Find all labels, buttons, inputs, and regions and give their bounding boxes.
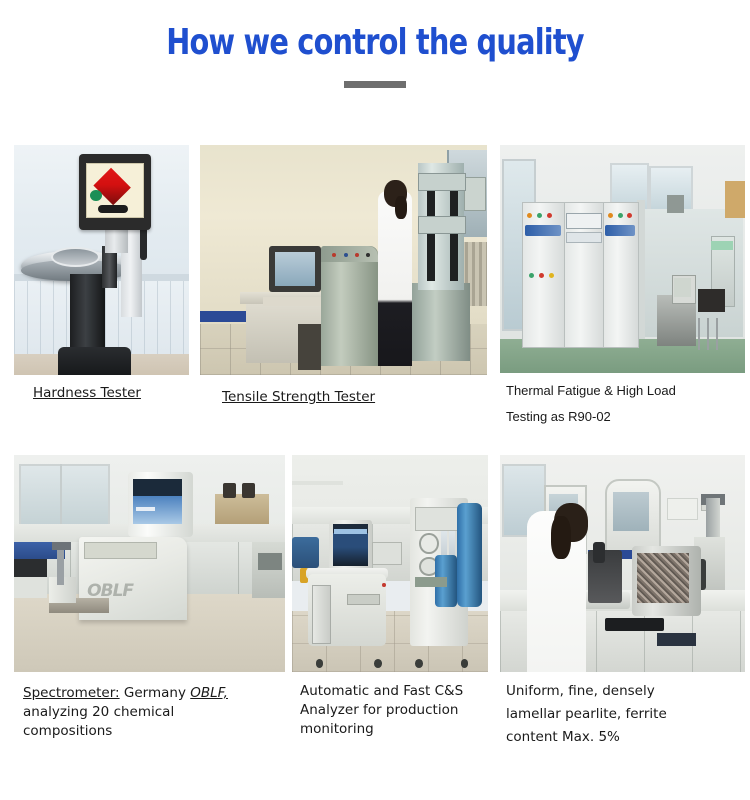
caption-thermal-fatigue-line2: Testing as R90-02 <box>506 404 611 429</box>
keyboard <box>605 618 664 631</box>
wood-frame <box>725 181 745 217</box>
ceiling-duct-box <box>667 195 684 213</box>
caption-spectrometer-line2: analyzing 20 chemical <box>23 702 174 722</box>
printer-body <box>14 577 47 599</box>
cabinet-label-strip-right <box>605 225 634 236</box>
title-divider <box>344 81 406 88</box>
photo-hardness-tester[interactable] <box>14 145 189 375</box>
screen-title-bar <box>334 529 367 534</box>
machine-base <box>58 347 132 375</box>
machine-head-neck <box>105 228 128 253</box>
fume-hood-right-glass <box>613 492 650 531</box>
quality-control-page: How we control the quality Hardne <box>0 0 750 800</box>
caption-spectrometer-brand: OBLF, <box>190 685 228 701</box>
caption-cs-analyzer-line1: Automatic and Fast C&S <box>300 681 463 701</box>
rack-indicator-panel <box>711 241 733 250</box>
indicator-lamp-icon <box>549 273 554 278</box>
photo-spectrometer[interactable]: OBLF <box>14 455 285 672</box>
furnace-display-panel <box>415 507 460 531</box>
blue-instrument-box <box>292 537 319 567</box>
caption-spectrometer-mid: Germany <box>120 685 191 701</box>
sample-tray <box>415 577 446 588</box>
caption-microscope-line2: lamellar pearlite, ferrite <box>506 704 667 724</box>
indicator-lamp-icon <box>539 273 544 278</box>
monitor-screen <box>275 252 315 287</box>
microscope-eyepiece <box>593 542 605 564</box>
bench-tester-column <box>706 498 721 541</box>
monitor-screen <box>133 479 182 525</box>
monitor-screen <box>674 278 691 296</box>
wall-cabinet <box>464 177 486 211</box>
meter-panel <box>566 213 602 229</box>
test-frame-base <box>412 283 469 361</box>
wall-shelf <box>292 481 343 485</box>
caption-microscope-line3: content Max. 5% <box>506 727 620 747</box>
photo-tensile-strength-tester[interactable] <box>200 145 487 375</box>
operator-body <box>378 191 412 366</box>
caster-wheel <box>461 659 469 668</box>
caption-cs-analyzer-line2: Analyzer for production <box>300 700 458 720</box>
clamp-head <box>52 542 71 551</box>
blue-furnace-cylinder <box>457 503 482 607</box>
caster-wheel <box>415 659 423 668</box>
caption-spectrometer-lead: Spectrometer: <box>23 685 120 701</box>
lower-grip-block <box>418 216 466 234</box>
operator-ponytail <box>395 196 406 219</box>
photo-thermal-fatigue-tester[interactable] <box>500 145 745 373</box>
caption-tensile-strength-tester: Tensile Strength Tester <box>222 387 375 407</box>
readout-bar <box>98 205 128 213</box>
console-button-icon <box>344 253 348 257</box>
caster-wheel <box>316 659 324 668</box>
caption-hardness-tester: Hardness Tester <box>33 383 141 403</box>
window <box>19 464 110 533</box>
microscope-body-left <box>223 483 237 498</box>
clamp-rod <box>57 546 64 585</box>
window-mullion <box>60 464 62 529</box>
control-console <box>321 246 378 366</box>
caster-wheel <box>374 659 382 668</box>
caption-thermal-fatigue-line1: Thermal Fatigue & High Load <box>506 378 676 403</box>
microscope-body-right <box>242 483 256 498</box>
caption-spectrometer-line3: compositions <box>23 721 112 741</box>
switch-panel <box>566 232 602 243</box>
caption-cs-analyzer-line3: monitoring <box>300 719 374 739</box>
pc-tower <box>312 585 332 643</box>
analyzer-label <box>347 594 380 605</box>
right-bench <box>252 542 285 598</box>
microscope-bench-rear <box>215 494 269 524</box>
screen-text-line <box>136 507 155 511</box>
microstructure-screen <box>637 553 688 603</box>
wall-notice <box>667 498 698 520</box>
right-equipment <box>258 553 282 570</box>
photo-metallographic-microscope[interactable] <box>500 455 745 672</box>
control-cabinet-right <box>603 202 639 348</box>
pc-tower <box>298 324 321 370</box>
caption-spectrometer-line1: Spectrometer: Germany OBLF, <box>23 683 228 703</box>
chair-legs <box>698 318 725 350</box>
photo-carbon-sulfur-analyzer[interactable] <box>292 455 488 672</box>
upper-grip-block <box>418 173 466 191</box>
caption-microscope-line1: Uniform, fine, densely <box>506 681 655 701</box>
operator-ponytail <box>551 516 571 559</box>
cabinet-label-strip-left <box>525 225 562 236</box>
mouse-pad <box>657 633 696 646</box>
page-header: How we control the quality <box>0 0 750 88</box>
printer <box>372 542 401 566</box>
page-title: How we control the quality <box>75 22 675 64</box>
spectrometer-keypad <box>84 542 156 559</box>
